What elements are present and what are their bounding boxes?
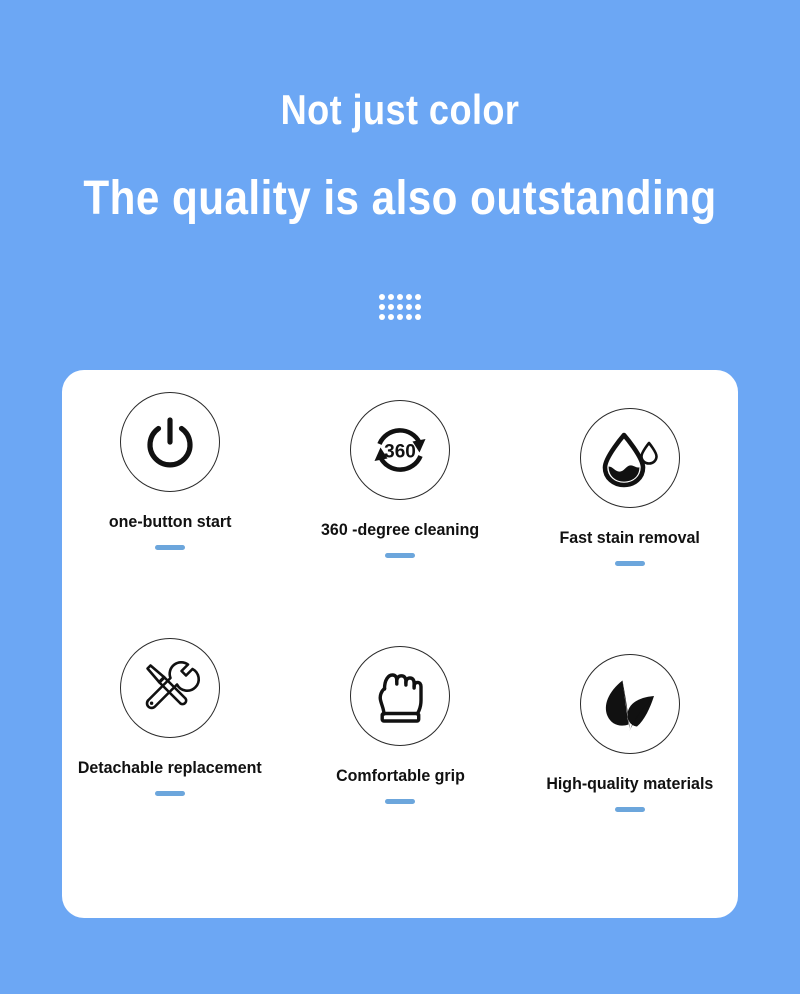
feature-item-high-quality-materials[interactable]: High-quality materials <box>522 654 738 900</box>
dot-icon <box>379 314 385 320</box>
feature-underline <box>385 799 415 804</box>
features-grid: one-button start 360 360 -degree cleanin… <box>62 370 738 918</box>
dot-grid-ornament <box>0 294 800 320</box>
feature-item-fast-stain-removal[interactable]: Fast stain removal <box>522 408 738 654</box>
feature-underline <box>615 807 645 812</box>
dot-grid-inner <box>379 294 421 320</box>
dot-icon <box>415 304 421 310</box>
heading-block: Not just color The quality is also outst… <box>0 0 800 228</box>
feature-label: Fast stain removal <box>560 528 700 548</box>
feature-item-one-button-start[interactable]: one-button start <box>62 392 278 638</box>
water-drop-icon <box>580 408 680 508</box>
feature-label: Detachable replacement <box>78 758 262 778</box>
dot-icon <box>406 314 412 320</box>
feature-label: 360 -degree cleaning <box>321 520 479 540</box>
feature-label: High-quality materials <box>547 774 714 794</box>
feature-underline <box>615 561 645 566</box>
feature-item-360-degree-cleaning[interactable]: 360 360 -degree cleaning <box>292 400 508 646</box>
feature-label: one-button start <box>109 512 232 532</box>
feature-item-comfortable-grip[interactable]: Comfortable grip <box>292 646 508 892</box>
feature-underline <box>385 553 415 558</box>
page-subtitle: The quality is also outstanding <box>48 170 752 228</box>
feature-underline <box>155 791 185 796</box>
feature-underline <box>155 545 185 550</box>
360-label: 360 <box>384 442 416 463</box>
power-button-icon <box>120 392 220 492</box>
dot-icon <box>415 314 421 320</box>
leaves-icon <box>580 654 680 754</box>
dot-icon <box>415 294 421 300</box>
dot-icon <box>406 294 412 300</box>
dot-icon <box>397 294 403 300</box>
tools-wrench-screwdriver-icon <box>120 638 220 738</box>
dot-icon <box>397 314 403 320</box>
page-title: Not just color <box>56 84 744 136</box>
dot-icon <box>379 304 385 310</box>
hand-grip-icon <box>350 646 450 746</box>
dot-icon <box>406 304 412 310</box>
dot-icon <box>379 294 385 300</box>
feature-label: Comfortable grip <box>336 766 465 786</box>
features-card: one-button start 360 360 -degree cleanin… <box>62 370 738 918</box>
dot-icon <box>397 304 403 310</box>
360-rotation-icon: 360 <box>350 400 450 500</box>
dot-icon <box>388 294 394 300</box>
dot-icon <box>388 304 394 310</box>
feature-item-detachable-replacement[interactable]: Detachable replacement <box>62 638 278 884</box>
dot-icon <box>388 314 394 320</box>
